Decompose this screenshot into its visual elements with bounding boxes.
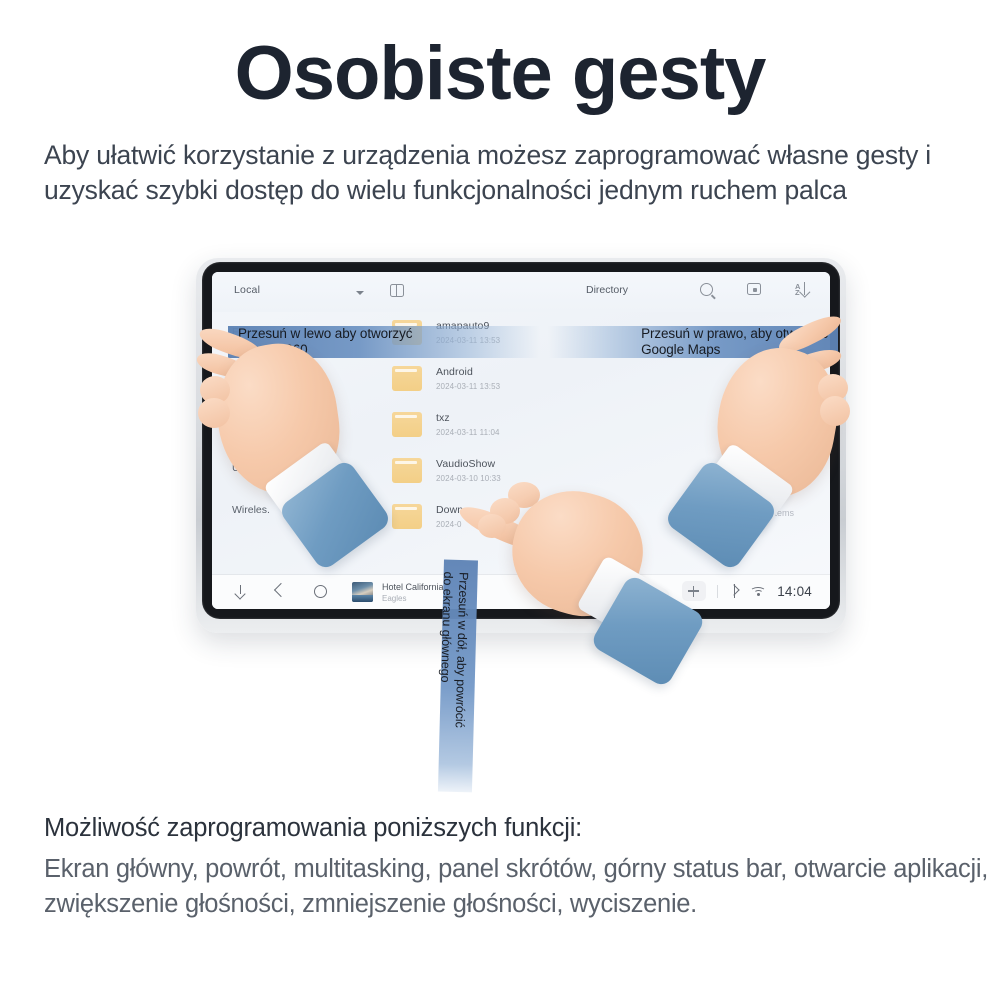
folder-icon	[392, 366, 422, 391]
knuckle	[478, 514, 506, 538]
file-manager-appbar: Local Directory AZ	[212, 272, 830, 312]
status-clock: 14:04	[777, 584, 812, 599]
file-name: Android	[436, 366, 500, 378]
folder-icon	[392, 412, 422, 437]
knuckle	[820, 396, 850, 426]
footer-body: Ekran główny, powrót, multitasking, pane…	[44, 852, 994, 922]
search-icon[interactable]	[700, 283, 713, 296]
page-title: Osobiste gesty	[0, 34, 1000, 114]
appbar-actions: AZ	[700, 282, 810, 296]
home-icon[interactable]	[314, 585, 327, 598]
status-tray: 14:04	[682, 581, 812, 601]
storage-selector-label[interactable]: Local	[234, 284, 260, 296]
album-art[interactable]	[352, 582, 373, 602]
sort-icon[interactable]: AZ	[795, 282, 810, 296]
track-title: Hotel California	[382, 582, 444, 592]
hand-down-swipe	[446, 478, 696, 708]
page-subtitle: Aby ułatwić korzystanie z urządzenia moż…	[44, 138, 974, 208]
file-name: VaudioShow	[436, 458, 501, 470]
promo-page: Osobiste gesty Aby ułatwić korzystanie z…	[0, 0, 1000, 1000]
folder-icon	[392, 504, 422, 529]
bluetooth-icon[interactable]	[729, 584, 739, 598]
chevron-down-icon[interactable]	[356, 291, 364, 295]
footer-title: Możliwość zaprogramowania poniższych fun…	[44, 814, 974, 843]
file-date: 2024-03-11 11:04	[436, 428, 500, 437]
collapse-down-icon[interactable]	[234, 585, 247, 598]
split-view-icon[interactable]	[390, 284, 404, 297]
knuckle	[198, 398, 230, 428]
file-name: txz	[436, 412, 500, 424]
directory-label: Directory	[586, 284, 628, 296]
wifi-icon[interactable]	[750, 585, 766, 597]
hand-left-swipe	[196, 318, 396, 558]
track-artist: Eagles	[382, 594, 444, 603]
folder-icon	[392, 458, 422, 483]
new-folder-icon[interactable]	[747, 283, 761, 295]
now-playing[interactable]: Hotel California Eagles	[382, 582, 444, 603]
table-row[interactable]: txz 2024-03-11 11:04	[392, 412, 500, 437]
divider	[717, 585, 718, 598]
back-icon[interactable]	[274, 583, 288, 597]
file-date: 2024-03-11 13:53	[436, 382, 500, 391]
table-row[interactable]: Android 2024-03-11 13:53	[392, 366, 500, 391]
